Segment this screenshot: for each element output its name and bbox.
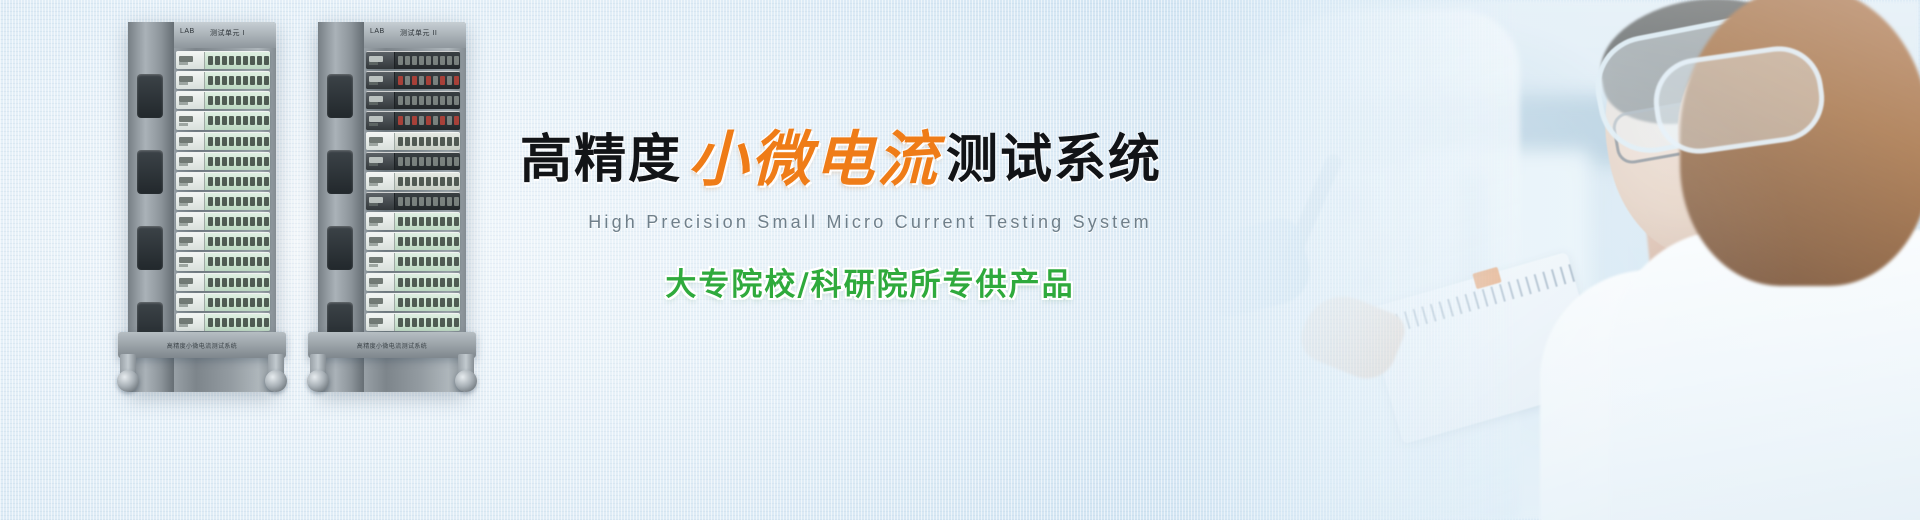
rack-unit-port: [433, 177, 438, 186]
rack-unit-port: [208, 237, 213, 246]
rack-unit-port: [419, 217, 424, 226]
rack-unit-port-row: [205, 92, 270, 109]
rack-unit-port: [447, 217, 452, 226]
rack-unit-port: [447, 116, 452, 125]
rack-unit-port: [222, 278, 227, 287]
rack-unit-port: [264, 177, 269, 186]
rack-unit-port: [222, 137, 227, 146]
rack-unit: [366, 172, 460, 190]
rack-unit-port: [426, 298, 431, 307]
rack-unit-port: [433, 257, 438, 266]
rack-unit-port: [440, 257, 445, 266]
rack-unit-port: [257, 116, 262, 125]
rack-unit-stack: [174, 48, 272, 334]
rack-base-label: 高精度小微电流测试系统: [357, 341, 427, 350]
rack-unit-port-row: [395, 173, 460, 190]
rack-unit-port: [454, 56, 459, 65]
rack-unit-port: [398, 177, 403, 186]
rack-unit-port: [257, 157, 262, 166]
rack-unit-port: [426, 76, 431, 85]
rack-unit-port: [433, 197, 438, 206]
rack-unit-port: [447, 76, 452, 85]
rack-unit-port: [243, 237, 248, 246]
rack-unit-faceplate: [176, 133, 205, 150]
rack-unit-port: [250, 56, 255, 65]
rack-vent-window: [137, 226, 163, 270]
rack-unit-port: [405, 318, 410, 327]
rack-unit-stack: [364, 48, 462, 334]
rack-unit-port: [264, 217, 269, 226]
rack-unit-port: [405, 298, 410, 307]
rack-unit-port: [405, 257, 410, 266]
rack-unit-faceplate: [366, 193, 395, 210]
rack-unit-port: [236, 318, 241, 327]
rack-unit-port: [243, 318, 248, 327]
rack-unit-port: [433, 56, 438, 65]
rack-unit: [366, 293, 460, 311]
rack-unit-port: [264, 237, 269, 246]
rack-unit-port-row: [205, 52, 270, 69]
rack-unit-faceplate: [176, 52, 205, 69]
rack-unit-port: [264, 278, 269, 287]
rack-unit-port-row: [395, 233, 460, 250]
rack-unit-port: [454, 237, 459, 246]
rack-unit: [366, 192, 460, 210]
rack-unit-port: [236, 237, 241, 246]
rack-unit-port: [222, 177, 227, 186]
rack-unit: [366, 313, 460, 331]
rack-unit-port: [440, 278, 445, 287]
rack-unit-faceplate: [176, 153, 205, 170]
rack-unit-port: [250, 278, 255, 287]
rack-unit-port: [447, 298, 452, 307]
rack-unit-port: [398, 137, 403, 146]
rack-unit-port: [208, 137, 213, 146]
rack-unit-port: [426, 257, 431, 266]
rack-unit-port-row: [395, 193, 460, 210]
product-banner: LAB 测试单元 I 高精度小微电流测试系统 LAB 测试单元 II: [0, 0, 1920, 520]
tagline: 大专院校/科研院所专供产品: [520, 259, 1220, 304]
rack-unit-port: [419, 157, 424, 166]
rack-unit-faceplate: [366, 173, 395, 190]
rack-unit-port: [250, 137, 255, 146]
rack-unit-port: [257, 56, 262, 65]
rack-unit-port: [236, 197, 241, 206]
rack-unit-faceplate: [176, 314, 205, 331]
headline-part1: 高精度: [520, 130, 682, 190]
rack-brand-label: LAB: [180, 28, 195, 35]
rack-unit-port: [440, 237, 445, 246]
rack-unit-port: [264, 56, 269, 65]
rack-unit: [366, 51, 460, 69]
rack-unit-port: [264, 257, 269, 266]
rack-unit-port: [405, 116, 410, 125]
rack-unit-port: [412, 76, 417, 85]
rack-unit-port: [454, 96, 459, 105]
rack-unit-port: [250, 298, 255, 307]
rack-unit-port: [208, 217, 213, 226]
rack-unit-port: [215, 237, 220, 246]
rack-unit-port: [405, 197, 410, 206]
rack-unit-port: [419, 56, 424, 65]
rack-unit-port: [398, 197, 403, 206]
rack-unit-faceplate: [366, 233, 395, 250]
rack-unit-port: [229, 137, 234, 146]
rack-unit-port-row: [205, 173, 270, 190]
rack-unit-port: [215, 298, 220, 307]
rack-unit-port: [412, 318, 417, 327]
rack-unit-faceplate: [366, 213, 395, 230]
rack-unit-port: [236, 116, 241, 125]
rack-unit-port: [222, 116, 227, 125]
rack-unit-port: [222, 298, 227, 307]
rack-unit-port: [440, 298, 445, 307]
rack-unit-port: [243, 217, 248, 226]
rack-unit-faceplate: [366, 133, 395, 150]
rack-unit-port: [208, 116, 213, 125]
rack-unit: [176, 252, 270, 270]
rack-unit-port-row: [205, 72, 270, 89]
rack-unit-port: [222, 217, 227, 226]
rack-model-label: 测试单元 I: [210, 28, 245, 38]
rack-unit-port: [447, 237, 452, 246]
rack-unit-port: [208, 257, 213, 266]
rack-unit-port: [250, 217, 255, 226]
rack-unit-port: [412, 177, 417, 186]
rack-unit-port: [236, 217, 241, 226]
rack-unit-port: [447, 177, 452, 186]
rack-unit-port: [208, 177, 213, 186]
rack-unit-port: [426, 96, 431, 105]
rack-unit-port: [454, 217, 459, 226]
headline-highlight: 小微电流: [688, 125, 940, 195]
rack-unit-port: [412, 298, 417, 307]
rack-unit-port-row: [205, 233, 270, 250]
rack-unit-faceplate: [366, 314, 395, 331]
rack-unit-port: [208, 157, 213, 166]
rack-unit-port-row: [395, 213, 460, 230]
rack-unit-port-row: [205, 274, 270, 291]
banner-copy: 高精度小微电流测试系统 High Precision Small Micro C…: [520, 130, 1300, 304]
rack-unit-port: [215, 257, 220, 266]
rack-unit-port: [426, 56, 431, 65]
rack-unit-port: [222, 257, 227, 266]
rack-unit-port: [236, 278, 241, 287]
rack-unit-port: [433, 318, 438, 327]
rack-unit-port: [229, 278, 234, 287]
rack-caster: [117, 370, 139, 392]
rack-unit-port-row: [205, 294, 270, 311]
rack-unit-port: [419, 318, 424, 327]
rack-unit-port: [250, 177, 255, 186]
rack-unit-port: [398, 157, 403, 166]
rack-unit-port: [426, 116, 431, 125]
rack-vent-window: [327, 226, 353, 270]
rack-unit-port: [433, 237, 438, 246]
rack-unit-port: [257, 318, 262, 327]
rack-unit: [176, 71, 270, 89]
rack-unit-port: [215, 56, 220, 65]
rack-unit: [366, 71, 460, 89]
rack-unit: [176, 212, 270, 230]
rack-model-label: 测试单元 II: [400, 28, 437, 38]
rack-unit-port: [208, 298, 213, 307]
rack-unit-port: [222, 96, 227, 105]
rack-unit-port: [454, 197, 459, 206]
rack-unit-port: [433, 157, 438, 166]
rack-unit-port: [412, 96, 417, 105]
rack-unit-port-row: [395, 253, 460, 270]
rack-unit-port: [222, 56, 227, 65]
rack-unit-port: [236, 96, 241, 105]
rack-unit-port: [236, 137, 241, 146]
rack-unit-port-row: [395, 274, 460, 291]
rack-unit: [176, 293, 270, 311]
rack-base-plate: 高精度小微电流测试系统: [118, 332, 286, 358]
rack-unit-port-row: [395, 294, 460, 311]
rack-unit: [176, 51, 270, 69]
rack-unit-port: [398, 298, 403, 307]
rack-unit: [366, 91, 460, 109]
rack-unit-faceplate: [366, 112, 395, 129]
rack-unit-port: [419, 76, 424, 85]
rack-unit-port: [419, 116, 424, 125]
rack-unit-port: [398, 96, 403, 105]
rack-unit-port: [412, 137, 417, 146]
rack-unit-port: [229, 157, 234, 166]
rack-unit-port: [433, 217, 438, 226]
rack-unit-port: [405, 76, 410, 85]
rack-unit-port: [433, 96, 438, 105]
rack-unit-port: [250, 157, 255, 166]
rack-unit-port: [229, 116, 234, 125]
rack-unit: [176, 232, 270, 250]
headline: 高精度小微电流测试系统: [520, 130, 1300, 190]
rack-unit-port: [208, 96, 213, 105]
rack-unit-port: [229, 217, 234, 226]
rack-unit-port: [243, 298, 248, 307]
rack-unit-port: [243, 76, 248, 85]
rack-unit-port: [398, 237, 403, 246]
rack-unit-port: [229, 257, 234, 266]
rack-unit-port: [398, 318, 403, 327]
rack-unit-port: [440, 137, 445, 146]
rack-unit-port: [440, 217, 445, 226]
rack-unit-port: [405, 278, 410, 287]
rack-unit-port: [257, 278, 262, 287]
rack-caster: [455, 370, 477, 392]
rack-unit: [176, 192, 270, 210]
rack-unit-port: [426, 278, 431, 287]
rack-unit: [366, 252, 460, 270]
rack-unit-port: [243, 197, 248, 206]
rack-unit-port: [405, 237, 410, 246]
rack-unit-port-row: [395, 153, 460, 170]
rack-unit-port: [264, 298, 269, 307]
rack-unit-port: [243, 278, 248, 287]
rack-unit-port: [440, 56, 445, 65]
rack-unit-port: [412, 56, 417, 65]
rack-unit-port: [398, 56, 403, 65]
rack-unit-port: [447, 96, 452, 105]
rack-unit-port: [243, 257, 248, 266]
rack-unit-port: [412, 116, 417, 125]
rack-unit-port: [229, 76, 234, 85]
rack-unit-port: [264, 116, 269, 125]
rack-unit-port: [222, 197, 227, 206]
rack-unit-port: [440, 116, 445, 125]
rack-unit-port: [412, 197, 417, 206]
rack-unit-port: [243, 157, 248, 166]
rack-unit-faceplate: [176, 253, 205, 270]
rack-unit-port: [257, 237, 262, 246]
rack-base-plate: 高精度小微电流测试系统: [308, 332, 476, 358]
rack-unit-port: [229, 237, 234, 246]
rack-unit-port: [222, 76, 227, 85]
rack-unit-port-row: [395, 314, 460, 331]
rack-unit-port: [229, 177, 234, 186]
rack-unit-faceplate: [366, 253, 395, 270]
rack-unit-port: [419, 237, 424, 246]
rack-unit-port: [236, 298, 241, 307]
rack-unit-port: [405, 137, 410, 146]
rack-unit-port: [208, 197, 213, 206]
rack-unit-port: [215, 157, 220, 166]
rack-unit-port: [419, 197, 424, 206]
rack-unit: [176, 111, 270, 129]
rack-unit-port: [257, 257, 262, 266]
rack-unit-port: [426, 197, 431, 206]
rack-unit: [366, 232, 460, 250]
rack-unit-port: [440, 318, 445, 327]
rack-unit-port: [236, 56, 241, 65]
rack-unit-port: [398, 217, 403, 226]
rack-unit-port: [454, 318, 459, 327]
rack-unit-port: [440, 197, 445, 206]
rack-unit-port: [454, 157, 459, 166]
rack-unit-port: [236, 257, 241, 266]
rack-unit-port: [243, 177, 248, 186]
rack-unit-port: [447, 278, 452, 287]
rack-unit-port: [454, 278, 459, 287]
rack-unit-port: [426, 157, 431, 166]
rack-unit-port-row: [395, 133, 460, 150]
rack-unit-port: [405, 157, 410, 166]
rack-unit-port-row: [205, 153, 270, 170]
rack-vent-window: [137, 74, 163, 118]
rack-unit-port: [257, 197, 262, 206]
rack-base-label: 高精度小微电流测试系统: [167, 341, 237, 350]
rack-unit-port: [215, 197, 220, 206]
rack-unit-port: [426, 318, 431, 327]
rack-unit: [366, 212, 460, 230]
rack-unit-port: [229, 56, 234, 65]
rack-unit-port: [243, 96, 248, 105]
rack-unit-faceplate: [366, 274, 395, 291]
rack-vent-window: [137, 150, 163, 194]
rack-unit-port: [454, 137, 459, 146]
rack-unit-port: [215, 177, 220, 186]
rack-unit-port: [208, 56, 213, 65]
rack-unit-port: [264, 76, 269, 85]
rack-unit-port: [215, 137, 220, 146]
rack-unit-port: [264, 197, 269, 206]
rack-unit-port: [454, 177, 459, 186]
rack-unit-faceplate: [366, 294, 395, 311]
rack-unit-port: [250, 197, 255, 206]
rack-unit-port: [208, 278, 213, 287]
rack-unit-port: [250, 318, 255, 327]
rack-unit-port: [412, 157, 417, 166]
rack-unit-port: [454, 76, 459, 85]
rack-unit-port: [440, 157, 445, 166]
rack-unit-port-row: [205, 133, 270, 150]
rack-unit-port: [215, 278, 220, 287]
rack-unit-port: [250, 96, 255, 105]
rack-vent-window: [327, 74, 353, 118]
rack-unit-port: [264, 157, 269, 166]
rack-unit: [176, 132, 270, 150]
rack-unit-port-row: [205, 213, 270, 230]
rack-caster: [265, 370, 287, 392]
rack-unit-port: [419, 298, 424, 307]
rack-unit-port: [419, 257, 424, 266]
rack-unit-port: [405, 56, 410, 65]
rack-unit-port-row: [395, 112, 460, 129]
rack-caster: [307, 370, 329, 392]
rack-unit-port: [447, 257, 452, 266]
rack-unit-port: [215, 76, 220, 85]
rack-unit-port: [215, 96, 220, 105]
rack-unit-port: [454, 298, 459, 307]
rack-unit-faceplate: [176, 213, 205, 230]
rack-unit-faceplate: [176, 72, 205, 89]
rack-unit-port: [447, 137, 452, 146]
rack-unit-port: [412, 278, 417, 287]
rack-unit-port: [412, 237, 417, 246]
rack-unit-port: [257, 96, 262, 105]
rack-unit-port: [454, 116, 459, 125]
rack-unit-port: [426, 137, 431, 146]
rack-unit-port: [215, 217, 220, 226]
rack-unit-port: [222, 157, 227, 166]
rack-unit: [176, 91, 270, 109]
rack-unit-port: [257, 76, 262, 85]
rack-unit-faceplate: [176, 112, 205, 129]
rack-unit-port: [229, 197, 234, 206]
rack-unit-port: [243, 116, 248, 125]
rack-unit-port: [412, 257, 417, 266]
rack-unit: [366, 273, 460, 291]
rack-unit-port: [236, 177, 241, 186]
rack-unit-port: [236, 157, 241, 166]
rack-unit-port: [419, 96, 424, 105]
rack-unit: [176, 273, 270, 291]
rack-unit-port: [433, 137, 438, 146]
rack-unit-port: [250, 76, 255, 85]
rack-unit-port: [222, 318, 227, 327]
rack-unit-port: [440, 177, 445, 186]
rack-unit: [366, 111, 460, 129]
rack-legs: [114, 356, 290, 392]
rack-unit-faceplate: [366, 92, 395, 109]
rack-unit: [366, 132, 460, 150]
rack-unit-port: [250, 116, 255, 125]
rack-unit-port-row: [395, 92, 460, 109]
rack-unit-port: [250, 257, 255, 266]
rack-unit-faceplate: [176, 233, 205, 250]
rack-unit-port: [440, 76, 445, 85]
